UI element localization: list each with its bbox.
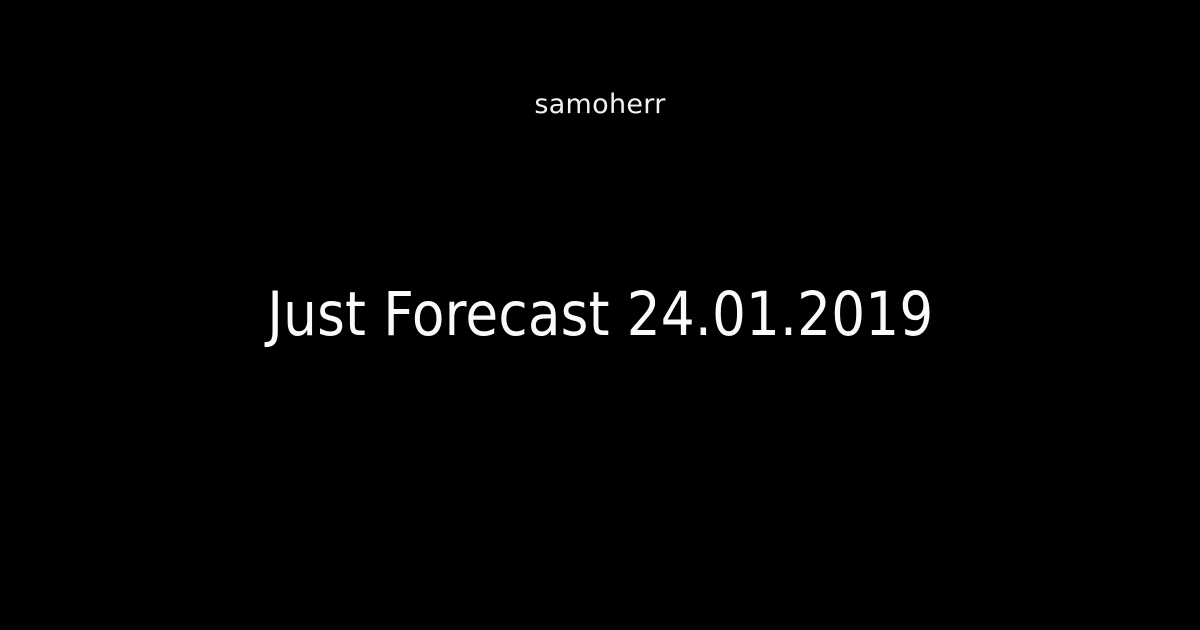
share-card: samoherr Just Forecast 24.01.2019 bbox=[0, 0, 1200, 630]
headline-container: Just Forecast 24.01.2019 bbox=[0, 0, 1200, 630]
page-title: Just Forecast 24.01.2019 bbox=[267, 281, 933, 349]
